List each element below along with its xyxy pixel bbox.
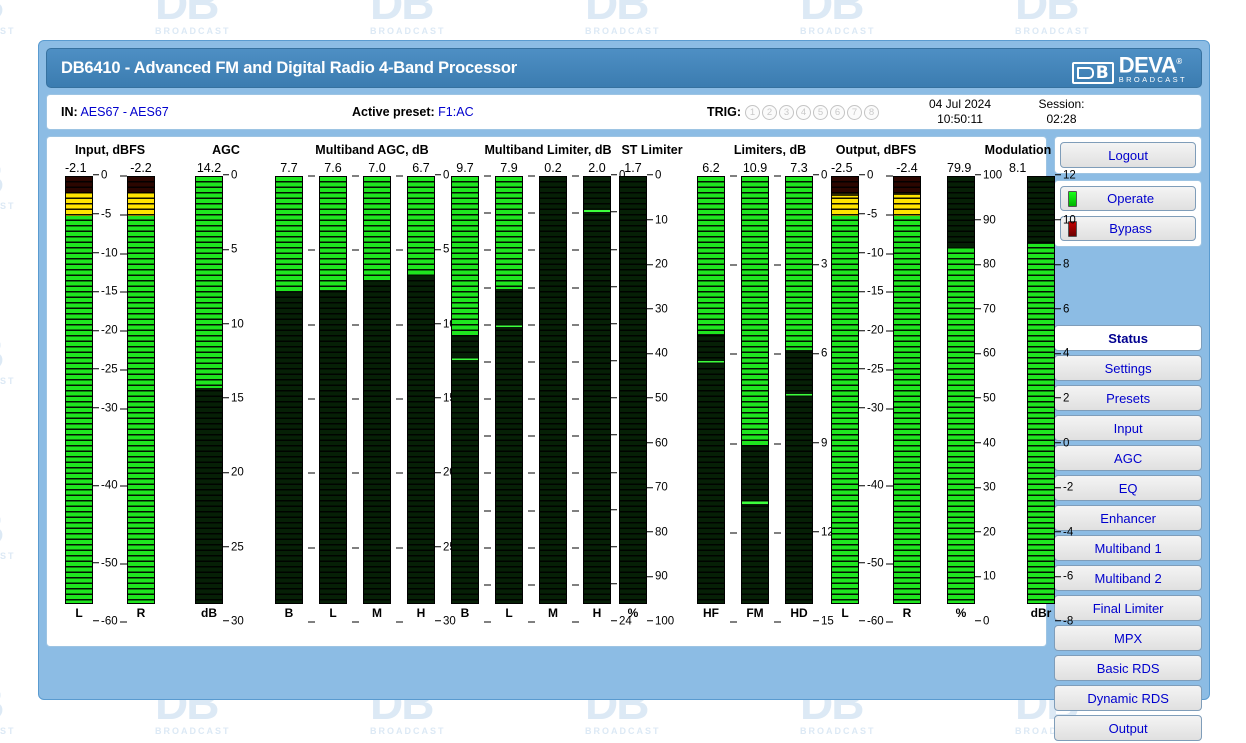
scale-tick-label: 70 — [975, 304, 996, 316]
scale-tick-label: 40 — [975, 438, 996, 450]
scale-tick-label: 80 — [647, 527, 668, 539]
scale-tick-label: 15 — [223, 393, 244, 405]
scale-tick-label: 70 — [647, 482, 668, 494]
trigger-led-1[interactable]: 1 — [745, 105, 760, 120]
meter-limiters-hd: HD — [785, 176, 813, 622]
scale-minor-ticks — [528, 176, 535, 622]
meter-group-output: Output, dBFS-2.5-2.4L0-5-10-15-20-25-30-… — [831, 143, 921, 641]
scale-minor-ticks — [774, 176, 781, 622]
meter-value: 7.6 — [319, 161, 347, 175]
scale-tick-label: 50 — [975, 393, 996, 405]
meter-bar — [893, 176, 921, 604]
meter-value: 0.2 — [539, 161, 567, 175]
active-preset-value: F1:AC — [438, 105, 473, 119]
trigger-led-7[interactable]: 7 — [847, 105, 862, 120]
scale-tick-label: 0 — [813, 170, 827, 182]
meter-bar-label: dBr — [1031, 604, 1052, 622]
scale-tick-label: 90 — [647, 572, 668, 584]
watermark-tile: DBBROADCAST — [800, 0, 876, 36]
scale-tick-label: -60 — [93, 616, 118, 628]
scale-tick-label: -6 — [1055, 572, 1073, 584]
scale-tick-label: -25 — [93, 364, 118, 376]
trigger-led-8[interactable]: 8 — [864, 105, 879, 120]
watermark-tile: DBBROADCAST — [0, 505, 16, 561]
meter-scale: 0102030405060708090100 — [647, 176, 685, 622]
meter-bar-label: B — [461, 604, 470, 622]
meter-peak-marker — [698, 361, 724, 364]
scale-minor-ticks — [308, 176, 315, 622]
session-value: 02:28 — [1019, 112, 1104, 127]
scale-tick-label: 9 — [813, 438, 827, 450]
meter-segment-stripes — [540, 177, 566, 603]
meter-bar — [697, 176, 725, 604]
scale-tick-label: 25 — [223, 542, 244, 554]
watermark-tile: DBBROADCAST — [1015, 0, 1091, 36]
scale-tick-label: -40 — [93, 481, 118, 493]
meter-bars-row: dB051015202530 — [195, 176, 257, 622]
scale-tick-label: -30 — [859, 403, 884, 415]
meter-bar-label: L — [841, 604, 848, 622]
meter-value: -2.4 — [893, 161, 921, 175]
bypass-label: Bypass — [1086, 217, 1189, 241]
meter-bars-row: BLMH024681012141618202224 — [451, 176, 645, 622]
meter-multiband_agc-b: B — [275, 176, 303, 622]
meter-output-l: L — [831, 176, 859, 622]
meter-bar-label: R — [137, 604, 146, 622]
meter-peak-marker — [742, 501, 768, 504]
scale-tick-label: -10 — [93, 248, 118, 260]
trigger-led-group: 12345678 — [745, 105, 879, 120]
scale-tick-label: -5 — [93, 209, 111, 221]
meter-bar-label: % — [628, 604, 639, 622]
meter-value: 2.0 — [583, 161, 611, 175]
meter-value: 1.7 — [619, 161, 647, 175]
scale-tick-label: 5 — [223, 245, 237, 257]
scale-tick-label: 0 — [1055, 438, 1069, 450]
scale-tick-label: 0 — [435, 170, 449, 182]
meter-bar — [619, 176, 647, 604]
watermark-tile: DBBROADCAST — [0, 0, 16, 36]
meter-multiband_agc-h: H — [407, 176, 435, 622]
meter-value: -2.2 — [127, 161, 155, 175]
meter-segment-stripes — [584, 177, 610, 603]
trigger-label: TRIG: — [707, 105, 741, 119]
scale-tick-label: -30 — [93, 403, 118, 415]
scale-tick-label: 10 — [647, 215, 668, 227]
meter-bar-label: M — [372, 604, 382, 622]
scale-tick-label: 60 — [647, 438, 668, 450]
meter-bar-label: H — [417, 604, 426, 622]
meter-value: 9.7 — [451, 161, 479, 175]
meter-bar-label: L — [75, 604, 82, 622]
meter-group-title: ST Limiter — [619, 143, 685, 159]
meter-input-r: R — [127, 176, 155, 622]
meter-scale: 1009080706050403020100 — [975, 176, 1009, 622]
scale-tick-label: 2 — [1055, 393, 1069, 405]
trigger-led-4[interactable]: 4 — [796, 105, 811, 120]
scale-tick-label: 4 — [1055, 349, 1069, 361]
scale-tick-label: 0 — [859, 170, 873, 182]
meter-bar-label: FM — [746, 604, 763, 622]
meter-bar — [275, 176, 303, 604]
trigger-block: TRIG: 12345678 — [707, 105, 879, 120]
meter-multiband_limiter-l: L — [495, 176, 523, 622]
watermark-tile: DBBROADCAST — [585, 0, 661, 36]
scale-minor-ticks — [120, 176, 127, 622]
scale-tick-label: 12 — [1055, 170, 1076, 182]
meter-group-multiband_agc: Multiband AGC, dB7.77.67.06.7BLMH0510152… — [275, 143, 469, 641]
meter-bar-label: R — [903, 604, 912, 622]
meter-peak-marker — [496, 324, 522, 327]
meter-modulation-%: % — [947, 176, 975, 622]
scale-tick-label: -4 — [1055, 527, 1073, 539]
meter-bar — [495, 176, 523, 604]
session-block: Session: 02:28 — [1019, 97, 1104, 127]
scale-tick-label: -10 — [859, 248, 884, 260]
logo-d-shape — [1077, 67, 1094, 79]
meter-group-agc: AGC14.2dB051015202530 — [195, 143, 257, 641]
meter-group-title: Multiband AGC, dB — [275, 143, 469, 159]
scale-tick-label: 8 — [1055, 259, 1069, 271]
scale-tick-label: -50 — [859, 558, 884, 570]
active-preset-label: Active preset: — [352, 105, 435, 119]
meter-bar-label: HD — [790, 604, 807, 622]
logo-subtitle: BROADCAST — [1119, 75, 1187, 84]
meter-group-title: Modulation — [947, 143, 1089, 159]
scale-tick-label: 10 — [975, 572, 996, 584]
scale-tick-label: 30 — [975, 482, 996, 494]
trigger-led-6[interactable]: 6 — [830, 105, 845, 120]
scale-tick-label: 5 — [435, 245, 449, 257]
scale-tick-label: -20 — [93, 325, 118, 337]
meter-group-title: Input, dBFS — [65, 143, 155, 159]
meter-bars-row: L0-5-10-15-20-25-30-40-50-60R — [65, 176, 155, 622]
time-value: 10:50:11 — [905, 112, 1015, 127]
input-source-label: IN: — [61, 105, 78, 119]
watermark-tile: DBBROADCAST — [0, 155, 16, 211]
meter-bar — [65, 176, 93, 604]
meter-peak-marker — [584, 209, 610, 212]
trigger-led-3[interactable]: 3 — [779, 105, 794, 120]
meter-bar — [947, 176, 975, 604]
meter-input-l: L — [65, 176, 93, 622]
meter-bar-label: H — [593, 604, 602, 622]
scale-tick-label: 30 — [647, 304, 668, 316]
scale-tick-label: 40 — [647, 349, 668, 361]
scale-minor-ticks — [396, 176, 403, 622]
scale-minor-ticks — [886, 176, 893, 622]
meter-bar — [1027, 176, 1055, 604]
scale-tick-label: -15 — [93, 287, 118, 299]
meter-agc-db: dB — [195, 176, 223, 622]
meter-group-title: Limiters, dB — [697, 143, 843, 159]
meter-group-multiband_limiter: Multiband Limiter, dB9.77.90.22.0BLMH024… — [451, 143, 645, 641]
scale-tick-label: 50 — [647, 393, 668, 405]
logo-brand: DEVA® — [1119, 52, 1182, 75]
scale-minor-ticks — [352, 176, 359, 622]
meter-scale: 051015202530 — [223, 176, 257, 622]
meter-bar — [127, 176, 155, 604]
meter-output-r: R — [893, 176, 921, 622]
meter-multiband_agc-l: L — [319, 176, 347, 622]
deva-broadcast-logo: B DEVA® BROADCAST — [1072, 52, 1187, 84]
app-window: DB6410 - Advanced FM and Digital Radio 4… — [38, 40, 1210, 700]
scale-tick-label: -8 — [1055, 616, 1073, 628]
meter-value: 7.7 — [275, 161, 303, 175]
nav-item-basic-rds[interactable]: Basic RDS — [1054, 655, 1202, 681]
active-preset-block: Active preset: F1:AC — [352, 105, 474, 119]
input-source-value: AES67 - AES67 — [80, 105, 168, 119]
date-value: 04 Jul 2024 — [905, 97, 1015, 112]
meter-bar — [407, 176, 435, 604]
scale-tick-label: 60 — [975, 349, 996, 361]
meter-bars-row: L0-5-10-15-20-25-30-40-50-60R — [831, 176, 921, 622]
meter-group-input: Input, dBFS-2.1-2.2L0-5-10-15-20-25-30-4… — [65, 143, 155, 641]
meter-group-title: Multiband Limiter, dB — [451, 143, 645, 159]
scale-minor-ticks — [572, 176, 579, 622]
logo-b-shape: B — [1096, 67, 1109, 79]
meter-value: 7.9 — [495, 161, 523, 175]
meter-peak-marker — [786, 394, 812, 397]
scale-tick-label: 0 — [93, 170, 107, 182]
modulation-bar-wrap: dBr121086420-2-4-6-8 — [1027, 176, 1089, 622]
meter-limiters-hf: HF — [697, 176, 725, 622]
scale-tick-label: 90 — [975, 215, 996, 227]
meter-value: 10.9 — [741, 161, 769, 175]
meter-scale: 0-5-10-15-20-25-30-40-50-60 — [93, 176, 127, 622]
meters-panel: Input, dBFS-2.1-2.2L0-5-10-15-20-25-30-4… — [46, 136, 1047, 647]
meter-bar — [831, 176, 859, 604]
trigger-led-2[interactable]: 2 — [762, 105, 777, 120]
meter-bar-label: L — [505, 604, 512, 622]
meter-bars-row: BLMH051015202530 — [275, 176, 469, 622]
session-label: Session: — [1019, 97, 1104, 112]
meter-group-limiters: Limiters, dB6.210.97.3HFFMHD03691215 — [697, 143, 843, 641]
scale-tick-label: -15 — [859, 287, 884, 299]
meter-bar-label: M — [548, 604, 558, 622]
scale-tick-label: 80 — [975, 259, 996, 271]
meter-group-st_limiter: ST Limiter1.7%0102030405060708090100 — [619, 143, 685, 641]
input-source-block: IN: AES67 - AES67 — [61, 105, 169, 119]
meter-bar — [785, 176, 813, 604]
title-bar: DB6410 - Advanced FM and Digital Radio 4… — [46, 48, 1202, 88]
scale-tick-label: -40 — [859, 481, 884, 493]
meter-group-title: AGC — [195, 143, 257, 159]
scale-tick-label: -2 — [1055, 482, 1073, 494]
scale-tick-label: -25 — [859, 364, 884, 376]
scale-tick-label: 100 — [647, 616, 674, 628]
scale-tick-label: 20 — [975, 527, 996, 539]
watermark-tile: DBBROADCAST — [370, 0, 446, 36]
meter-bars-row: HFFMHD03691215 — [697, 176, 843, 622]
meter-value: 6.7 — [407, 161, 435, 175]
scale-tick-label: 20 — [647, 259, 668, 271]
meter-bar — [539, 176, 567, 604]
meter-segment-stripes — [620, 177, 646, 603]
meter-multiband_limiter-h: H — [583, 176, 611, 622]
scale-tick-label: -20 — [859, 325, 884, 337]
trigger-led-5[interactable]: 5 — [813, 105, 828, 120]
meter-limiters-fm: FM — [741, 176, 769, 622]
operate-label: Operate — [1086, 187, 1189, 211]
watermark-tile: DBBROADCAST — [0, 330, 16, 386]
db-logo-icon: B — [1072, 62, 1114, 84]
meter-bar-label: L — [329, 604, 336, 622]
scale-tick-label: -5 — [859, 209, 877, 221]
meter-value: 7.3 — [785, 161, 813, 175]
meter-bar — [451, 176, 479, 604]
meter-multiband_limiter-m: M — [539, 176, 567, 622]
watermark-tile: DBBROADCAST — [155, 0, 231, 36]
scale-tick-label: 30 — [223, 616, 244, 628]
meter-multiband_agc-m: M — [363, 176, 391, 622]
nav-item-output[interactable]: Output — [1054, 715, 1202, 741]
scale-tick-label: 0 — [975, 616, 989, 628]
meter-group-modulation: Modulation79.98.1%1009080706050403020100… — [947, 143, 1089, 641]
meter-bars-row: %1009080706050403020100dBr121086420-2-4-… — [947, 176, 1089, 622]
meter-st_limiter-%: % — [619, 176, 647, 622]
meter-scale: 121086420-2-4-6-8 — [1055, 176, 1089, 622]
scale-tick-label: 6 — [1055, 304, 1069, 316]
watermark-tile: DBBROADCAST — [0, 680, 16, 736]
meter-scale: 0-5-10-15-20-25-30-40-50-60 — [859, 176, 893, 622]
scale-tick-label: 6 — [813, 349, 827, 361]
scale-tick-label: -50 — [93, 558, 118, 570]
scale-tick-label: 10 — [223, 319, 244, 331]
meter-bar — [319, 176, 347, 604]
meter-bar — [741, 176, 769, 604]
scale-minor-ticks — [730, 176, 737, 622]
meter-bar-label: HF — [703, 604, 719, 622]
meter-bar-label: % — [956, 604, 967, 622]
scale-tick-label: 10 — [1055, 215, 1076, 227]
meter-value: 14.2 — [195, 161, 223, 175]
page-title: DB6410 - Advanced FM and Digital Radio 4… — [61, 59, 517, 78]
meter-multiband_limiter-b: B — [451, 176, 479, 622]
meter-group-title: Output, dBFS — [831, 143, 921, 159]
scale-tick-label: 0 — [223, 170, 237, 182]
scale-tick-label: 100 — [975, 170, 1002, 182]
nav-item-dynamic-rds[interactable]: Dynamic RDS — [1054, 685, 1202, 711]
scale-tick-label: -60 — [859, 616, 884, 628]
meter-value: 6.2 — [697, 161, 725, 175]
meter-value-row: -2.5-2.4 — [831, 159, 921, 176]
meter-bar — [195, 176, 223, 604]
meter-modulation-dbr: dBr — [1027, 176, 1055, 622]
meter-bar — [583, 176, 611, 604]
scale-minor-ticks — [484, 176, 491, 622]
meter-bar-label: B — [285, 604, 294, 622]
scale-tick-label: 0 — [647, 170, 661, 182]
meter-bar — [363, 176, 391, 604]
datetime-block: 04 Jul 2024 10:50:11 — [905, 97, 1015, 127]
meter-value-row: -2.1-2.2 — [65, 159, 155, 176]
scale-tick-label: 20 — [223, 468, 244, 480]
modulation-bar-wrap: %1009080706050403020100 — [947, 176, 1009, 622]
meter-value: 7.0 — [363, 161, 391, 175]
status-info-strip: IN: AES67 - AES67 Active preset: F1:AC T… — [46, 94, 1202, 130]
meter-peak-marker — [452, 357, 478, 360]
meter-bars-row: %0102030405060708090100 — [619, 176, 685, 622]
scale-tick-label: 3 — [813, 259, 827, 271]
meter-bar-label: dB — [201, 604, 217, 622]
